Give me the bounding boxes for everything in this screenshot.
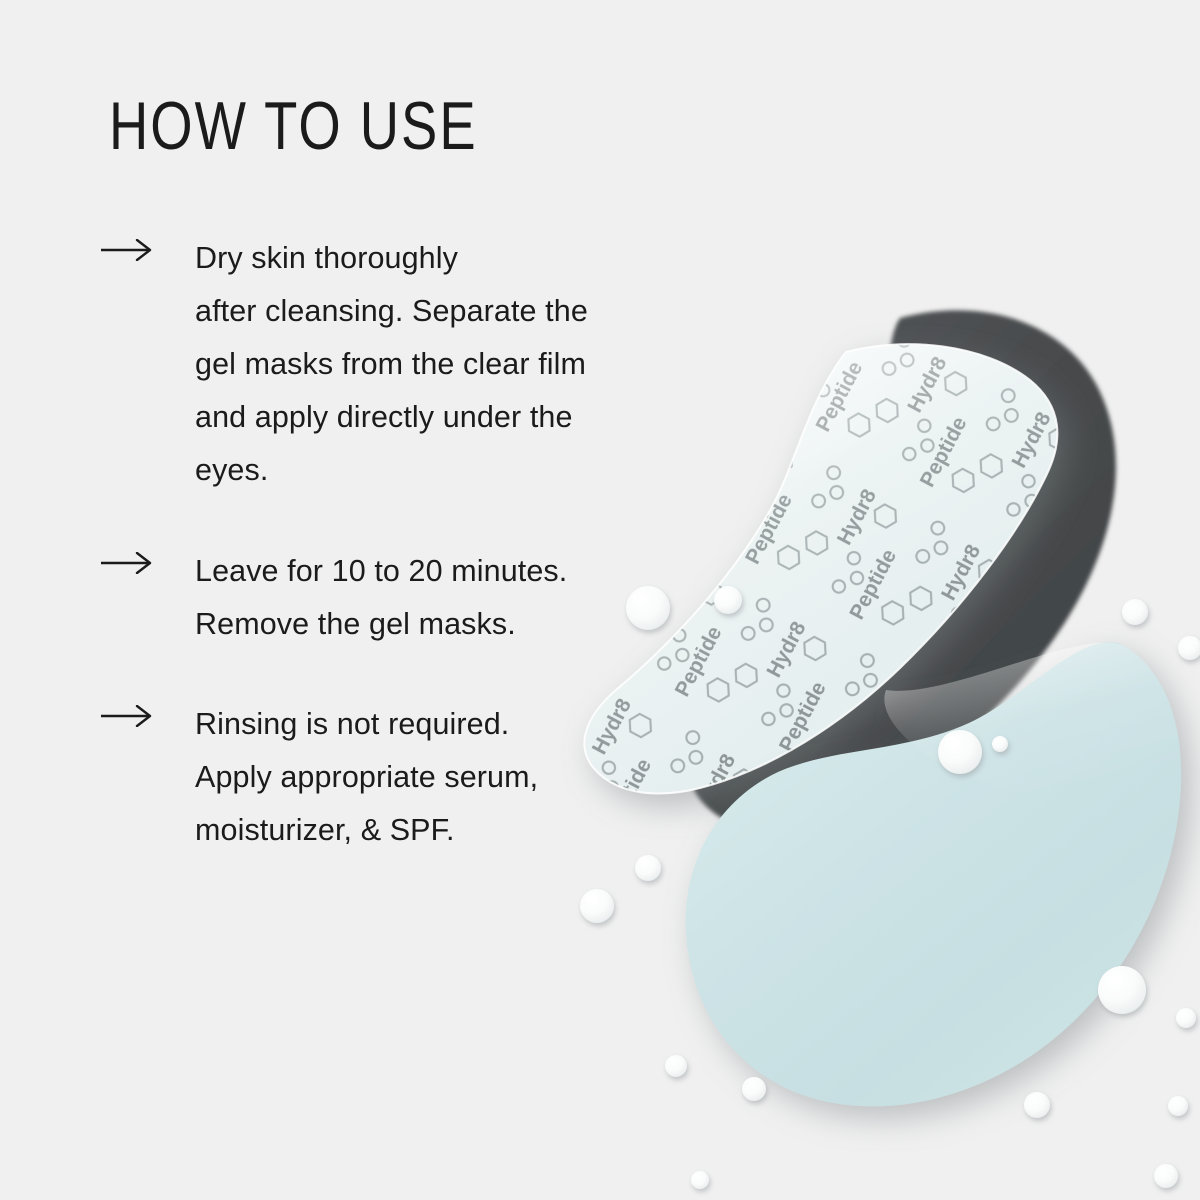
- instructions-column: HOW TO USE Dry skin thoroughly after cle…: [0, 0, 700, 1200]
- step-text: Rinsing is not required. Apply appropria…: [195, 698, 700, 857]
- arrow-right-icon: [100, 232, 195, 261]
- droplet: [992, 736, 1008, 752]
- step-item: Leave for 10 to 20 minutes. Remove the g…: [100, 545, 700, 651]
- arrow-right-icon: [100, 698, 195, 727]
- droplet: [938, 730, 982, 774]
- droplet: [1122, 599, 1148, 625]
- step-text: Leave for 10 to 20 minutes. Remove the g…: [195, 545, 700, 651]
- droplet: [1178, 636, 1200, 660]
- arrow-right-icon: [100, 545, 195, 574]
- droplet: [1024, 1092, 1050, 1118]
- step-text: Dry skin thoroughly after cleansing. Sep…: [195, 232, 700, 497]
- page-title: HOW TO USE: [109, 92, 478, 160]
- droplet: [1176, 1008, 1196, 1028]
- droplet: [1098, 966, 1146, 1014]
- droplet: [1168, 1096, 1188, 1116]
- how-to-use-panel: Hydr8 Peptide: [0, 0, 1200, 1200]
- step-item: Rinsing is not required. Apply appropria…: [100, 698, 700, 857]
- droplet: [1154, 1164, 1178, 1188]
- droplet: [742, 1077, 766, 1101]
- droplet: [714, 586, 742, 614]
- step-item: Dry skin thoroughly after cleansing. Sep…: [100, 232, 700, 497]
